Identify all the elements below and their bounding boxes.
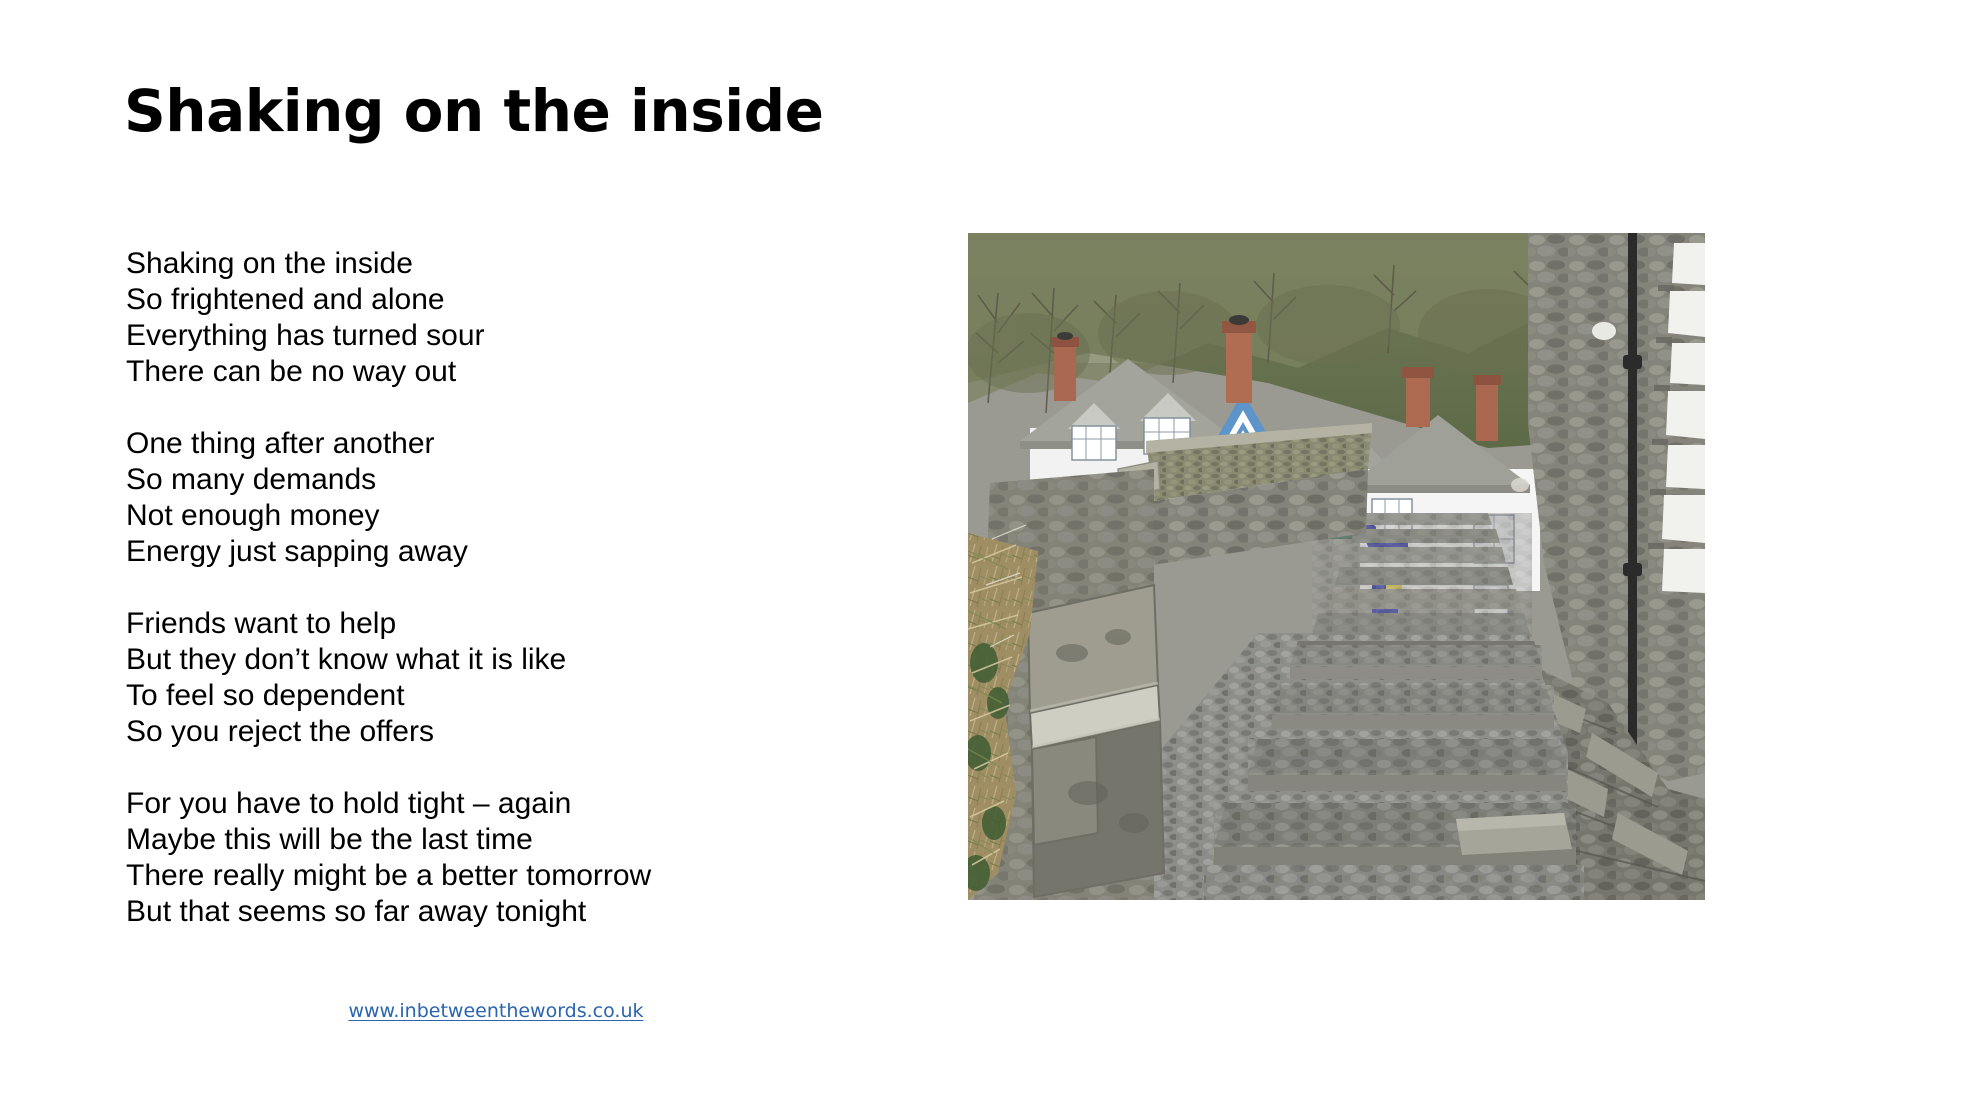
poem-line: So you reject the offers — [126, 714, 866, 750]
slide-canvas: Shaking on the inside Shaking on the ins… — [0, 0, 1976, 1103]
poem-line: Energy just sapping away — [126, 534, 866, 570]
poem-line: But they don’t know what it is like — [126, 642, 866, 678]
poem-line: Everything has turned sour — [126, 318, 866, 354]
photo-illustration — [968, 233, 1705, 900]
poem-line: There really might be a better tomorrow — [126, 858, 866, 894]
poem-line: To feel so dependent — [126, 678, 866, 714]
poem-stanza: Shaking on the inside So frightened and … — [126, 246, 866, 390]
poem-line: So frightened and alone — [126, 282, 866, 318]
poem-line: But that seems so far away tonight — [126, 894, 866, 930]
poem-line: So many demands — [126, 462, 866, 498]
poem-stanza: One thing after another So many demands … — [126, 426, 866, 570]
poem-stanza: Friends want to help But they don’t know… — [126, 606, 866, 750]
poem-line: Shaking on the inside — [126, 246, 866, 282]
page-title: Shaking on the inside — [124, 78, 823, 145]
poem-line: One thing after another — [126, 426, 866, 462]
poem-body: Shaking on the inside So frightened and … — [126, 246, 866, 930]
poem-line: There can be no way out — [126, 354, 866, 390]
poem-line: Not enough money — [126, 498, 866, 534]
slide-photo — [968, 233, 1705, 900]
poem-stanza: For you have to hold tight – again Maybe… — [126, 786, 866, 930]
footer-link-container: www.inbetweenthewords.co.uk — [126, 1000, 866, 1022]
poem-line: Maybe this will be the last time — [126, 822, 866, 858]
poem-line: For you have to hold tight – again — [126, 786, 866, 822]
poem-line: Friends want to help — [126, 606, 866, 642]
website-link[interactable]: www.inbetweenthewords.co.uk — [348, 1000, 643, 1022]
